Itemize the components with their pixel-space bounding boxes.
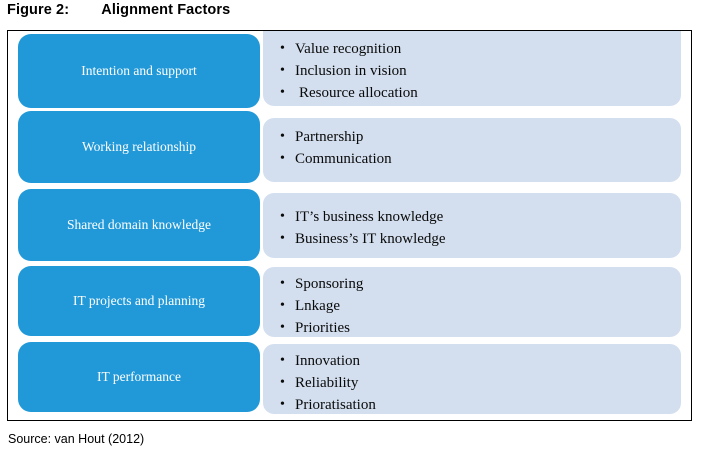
factor-detail-panel: SponsoringLnkagePriorities	[263, 267, 681, 337]
factor-bullet-item: Business’s IT knowledge	[280, 228, 673, 250]
factor-bullet-list: InnovationReliabilityPrioratisation	[280, 350, 673, 416]
factor-label-text: Shared domain knowledge	[61, 217, 217, 233]
factor-bullet-item: Inclusion in vision	[280, 60, 673, 82]
factor-bullet-item: Sponsoring	[280, 273, 673, 295]
factor-label-box: Working relationship	[18, 111, 260, 183]
factor-label-text: Working relationship	[76, 139, 202, 155]
figure-caption-title: Alignment Factors	[101, 2, 230, 18]
factor-bullet-list: IT’s business knowledgeBusiness’s IT kno…	[280, 206, 673, 250]
factor-label-box: Intention and support	[18, 34, 260, 108]
figure-caption-label: Figure 2:	[7, 2, 69, 18]
factor-label-box: Shared domain knowledge	[18, 189, 260, 261]
factor-bullet-item: Value recognition	[280, 38, 673, 60]
factor-label-text: IT projects and planning	[67, 293, 211, 309]
source-note: Source: van Hout (2012)	[8, 432, 144, 446]
figure-frame: Intention and supportValue recognitionIn…	[7, 30, 692, 421]
factor-detail-panel: InnovationReliabilityPrioratisation	[263, 344, 681, 414]
factor-bullet-item: Partnership	[280, 126, 673, 148]
factor-detail-panel: IT’s business knowledgeBusiness’s IT kno…	[263, 193, 681, 258]
factor-bullet-list: PartnershipCommunication	[280, 126, 673, 170]
factor-bullet-item: Innovation	[280, 350, 673, 372]
factor-bullet-item: Reliability	[280, 372, 673, 394]
factor-bullet-item: Priorities	[280, 317, 673, 339]
factor-label-text: IT performance	[91, 369, 187, 385]
figure-caption: Figure 2: Alignment Factors	[7, 2, 230, 18]
factor-label-box: IT projects and planning	[18, 266, 260, 336]
factor-detail-panel: PartnershipCommunication	[263, 118, 681, 182]
factor-bullet-list: Value recognitionInclusion in visionReso…	[280, 38, 673, 104]
factor-label-text: Intention and support	[75, 63, 202, 79]
factor-bullet-list: SponsoringLnkagePriorities	[280, 273, 673, 339]
factor-bullet-item: Lnkage	[280, 295, 673, 317]
factor-bullet-item: Prioratisation	[280, 394, 673, 416]
alignment-factors-rows: Intention and supportValue recognitionIn…	[8, 31, 691, 420]
factor-bullet-item: IT’s business knowledge	[280, 206, 673, 228]
factor-bullet-item: Communication	[280, 148, 673, 170]
factor-detail-panel: Value recognitionInclusion in visionReso…	[263, 31, 681, 106]
factor-label-box: IT performance	[18, 342, 260, 412]
factor-bullet-item: Resource allocation	[280, 82, 673, 104]
